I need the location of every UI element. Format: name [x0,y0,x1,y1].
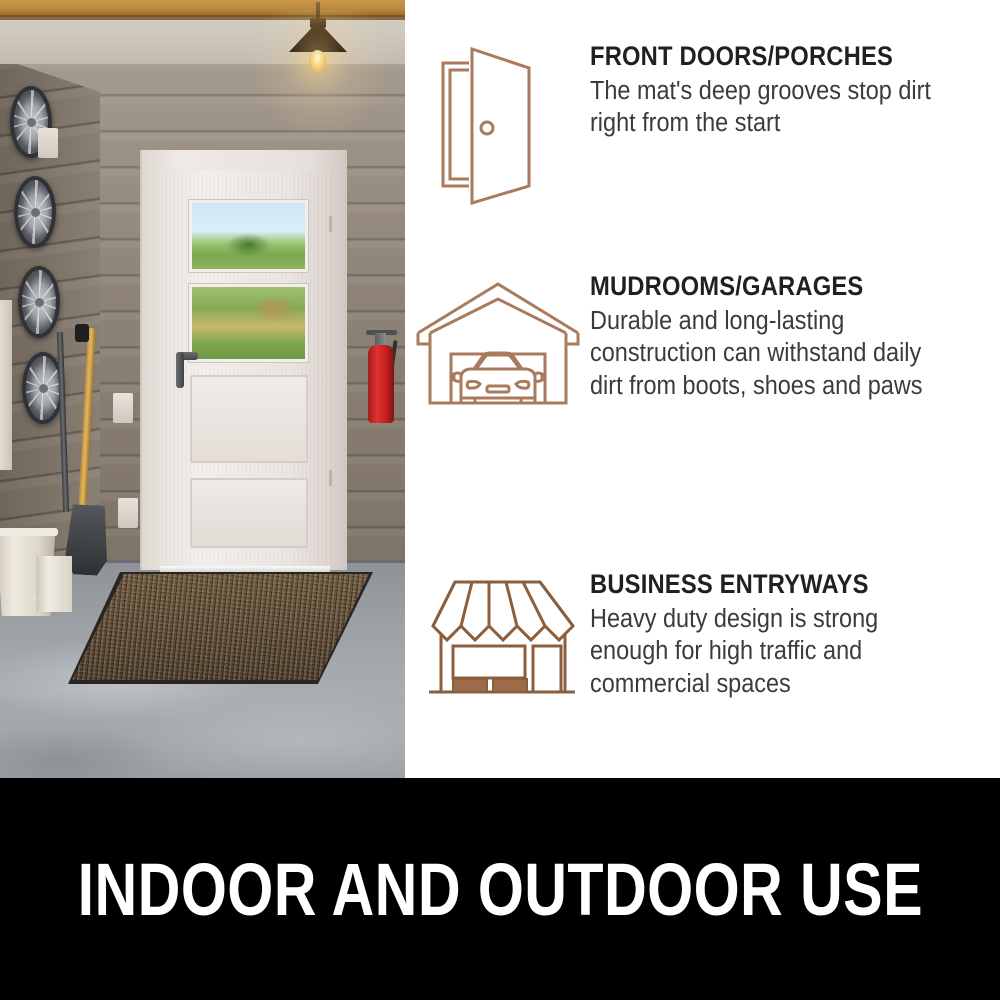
wheel-spokes-icon [18,180,52,244]
wall-outlet [38,128,58,158]
pendant-bulb [309,50,326,72]
feature-icon-wrap [405,272,590,411]
feature-title: MUDROOMS/GARAGES [590,272,935,300]
wall-shelf [0,300,12,470]
feature-icon-wrap [405,42,590,206]
top-section: FRONT DOORS/PORCHES The mat's deep groov… [0,0,1000,778]
wall-outlet [113,393,133,423]
alloy-wheel [14,176,56,248]
feature-description: Durable and long-lasting construction ca… [590,305,951,401]
door-glass-lower [189,284,308,362]
feature-text-wrap: BUSINESS ENTRYWAYS Heavy duty design is … [590,570,1000,700]
door-handle-lever [176,352,184,388]
bottom-banner: INDOOR AND OUTDOOR USE [0,778,1000,1000]
feature-text-wrap: FRONT DOORS/PORCHES The mat's deep groov… [590,42,1000,140]
doormat-surface [72,574,369,680]
feature-front-doors-porches: FRONT DOORS/PORCHES The mat's deep groov… [405,42,1000,206]
banner-headline: INDOOR AND OUTDOOR USE [77,847,922,932]
door-hinge [329,470,332,486]
door-hinge [329,216,332,232]
door-panel-middle [190,375,308,463]
garage-with-car-icon [413,276,583,411]
product-photo [0,0,405,778]
shovel-grip [75,324,89,342]
features-panel: FRONT DOORS/PORCHES The mat's deep groov… [405,0,1000,778]
feature-title: FRONT DOORS/PORCHES [590,42,935,70]
bucket-rim [0,528,58,536]
storefront-icon [415,574,580,704]
feature-mudrooms-garages: MUDROOMS/GARAGES Durable and long-lastin… [405,272,1000,411]
alloy-wheel [18,266,60,338]
wheel-spokes-icon [22,270,56,334]
wall-outlet [118,498,138,528]
feature-business-entryways: BUSINESS ENTRYWAYS Heavy duty design is … [405,570,1000,704]
fire-extinguisher [368,345,394,423]
door-threshold [160,566,330,572]
door-panel-bottom [190,478,308,548]
paint-can [36,556,72,612]
feature-title: BUSINESS ENTRYWAYS [590,570,935,598]
ceiling-beam-shadow [0,15,405,20]
wheel-spokes-icon [26,356,60,420]
open-door-icon [433,46,563,206]
infographic-page: FRONT DOORS/PORCHES The mat's deep groov… [0,0,1000,1000]
door-glass-upper [189,200,308,272]
feature-description: Heavy duty design is strong enough for h… [590,603,951,699]
feature-description: The mat's deep grooves stop dirt right f… [590,75,951,139]
feature-icon-wrap [405,570,590,704]
feature-text-wrap: MUDROOMS/GARAGES Durable and long-lastin… [590,272,1000,402]
